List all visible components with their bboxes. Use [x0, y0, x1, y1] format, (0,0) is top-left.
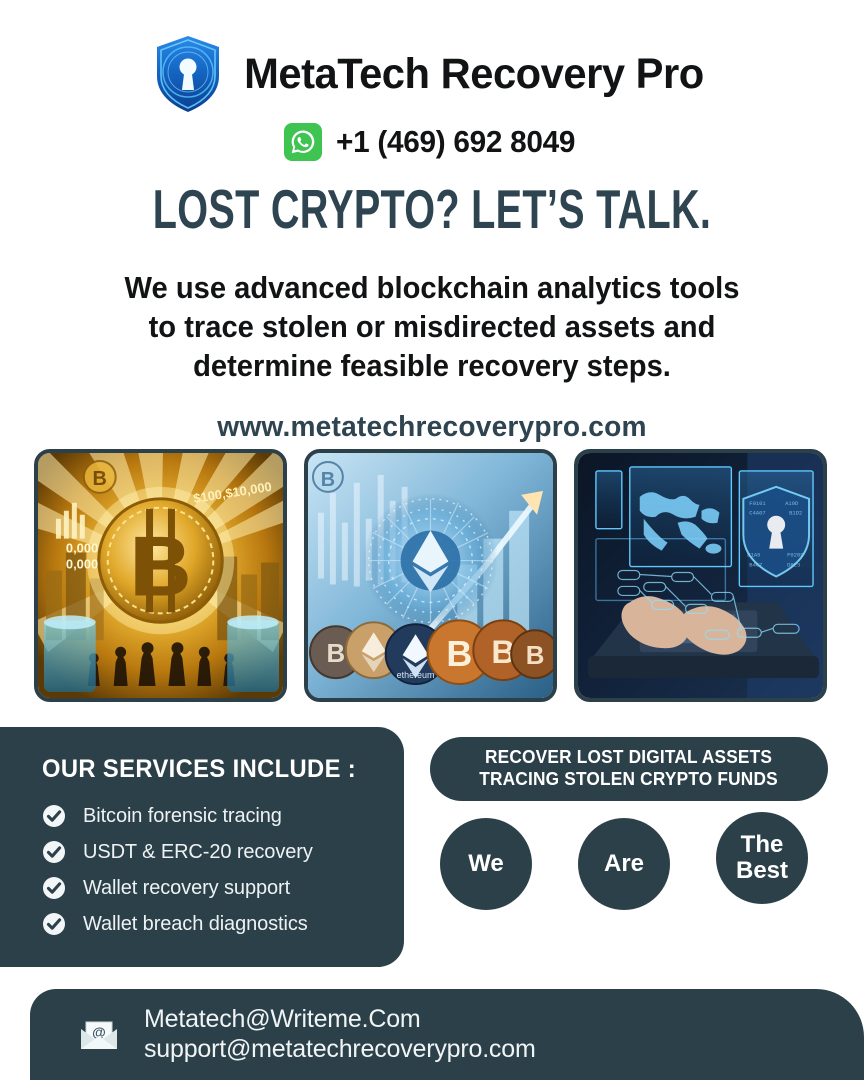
services-list: Bitcoin forensic tracing USDT & ERC-20 r… — [42, 804, 404, 936]
check-circle-icon — [42, 804, 66, 828]
check-circle-icon — [42, 876, 66, 900]
brand-row: MetaTech Recovery Pro — [0, 34, 864, 114]
services-title: OUR SERVICES INCLUDE : — [42, 755, 386, 784]
shield-keyhole-icon — [153, 34, 223, 114]
image-gallery: B B $100,$10, — [34, 449, 834, 702]
svg-text:F0209: F0209 — [787, 552, 803, 559]
svg-text:B: B — [446, 634, 472, 674]
tagline-line-2: TRACING STOLEN CRYPTO FUNDS — [480, 769, 779, 791]
list-item: Wallet recovery support — [42, 876, 404, 900]
list-item: Wallet breach diagnostics — [42, 912, 404, 936]
svg-text:B: B — [327, 640, 346, 668]
svg-text:E1A5: E1A5 — [747, 552, 760, 559]
list-item: USDT & ERC-20 recovery — [42, 840, 404, 864]
circle-badge-the-best: The Best — [716, 812, 808, 904]
subheadline: We use advanced blockchain analytics too… — [84, 268, 780, 385]
circle-badge-we: We — [440, 818, 532, 910]
cybersecurity-laptop-photo: F0101A19D C4A07B1D2 E1A5F0209 B4C7D8E3 — [574, 449, 827, 702]
svg-text:B: B — [321, 469, 335, 491]
svg-text:B4C7: B4C7 — [749, 562, 762, 569]
website-url[interactable]: www.metatechrecoverypro.com — [13, 411, 851, 444]
check-circle-icon — [42, 840, 66, 864]
service-label: Bitcoin forensic tracing — [83, 805, 282, 828]
subheadline-line-2: to trace stolen or misdirected assets an… — [84, 307, 780, 346]
whatsapp-icon[interactable] — [284, 123, 322, 161]
email-list: Metatech@Writeme.Com support@metatechrec… — [144, 1005, 536, 1064]
service-label: USDT & ERC-20 recovery — [83, 841, 313, 864]
svg-text:ethereum: ethereum — [397, 670, 435, 680]
svg-text:D8E3: D8E3 — [787, 562, 800, 569]
tagline-badge: RECOVER LOST DIGITAL ASSETS TRACING STOL… — [430, 737, 828, 801]
service-label: Wallet recovery support — [83, 877, 290, 900]
header: MetaTech Recovery Pro +1 (469) 692 8049 — [0, 34, 864, 161]
brand-title: MetaTech Recovery Pro — [244, 53, 704, 96]
svg-text:B: B — [130, 518, 192, 614]
svg-text:B1D2: B1D2 — [789, 510, 802, 517]
bitcoin-golden-city-photo: B B $100,$10, — [34, 449, 287, 702]
email-secondary[interactable]: support@metatechrecoverypro.com — [144, 1035, 536, 1064]
subheadline-line-3: determine feasible recovery steps. — [84, 346, 780, 385]
svg-text:A19D: A19D — [785, 500, 798, 507]
svg-text:0,000: 0,000 — [66, 557, 98, 572]
ethereum-crypto-chart-photo: B ethereum B B B B — [304, 449, 557, 702]
poster-canvas: MetaTech Recovery Pro +1 (469) 692 8049 … — [0, 0, 864, 1080]
svg-text:C4A07: C4A07 — [749, 510, 765, 517]
envelope-at-icon: @ — [78, 1018, 120, 1052]
service-label: Wallet breach diagnostics — [83, 913, 308, 936]
services-panel: OUR SERVICES INCLUDE : Bitcoin forensic … — [0, 727, 404, 967]
check-circle-icon — [42, 912, 66, 936]
footer-contact-bar: @ Metatech@Writeme.Com support@metatechr… — [30, 989, 864, 1080]
phone-number[interactable]: +1 (469) 692 8049 — [336, 124, 575, 160]
svg-text:0,000: 0,000 — [66, 541, 98, 556]
circle-badge-are: Are — [578, 818, 670, 910]
we-are-the-best-circles: We Are The Best — [438, 818, 828, 912]
svg-text:B: B — [526, 642, 545, 670]
svg-text:F0101: F0101 — [749, 500, 766, 507]
headline: LOST CRYPTO? LET’S TALK. — [121, 182, 743, 237]
tagline-line-1: RECOVER LOST DIGITAL ASSETS — [485, 747, 772, 769]
phone-row[interactable]: +1 (469) 692 8049 — [0, 123, 864, 161]
subheadline-line-1: We use advanced blockchain analytics too… — [84, 268, 780, 307]
list-item: Bitcoin forensic tracing — [42, 804, 404, 828]
email-primary[interactable]: Metatech@Writeme.Com — [144, 1005, 536, 1034]
svg-text:B: B — [93, 468, 107, 490]
